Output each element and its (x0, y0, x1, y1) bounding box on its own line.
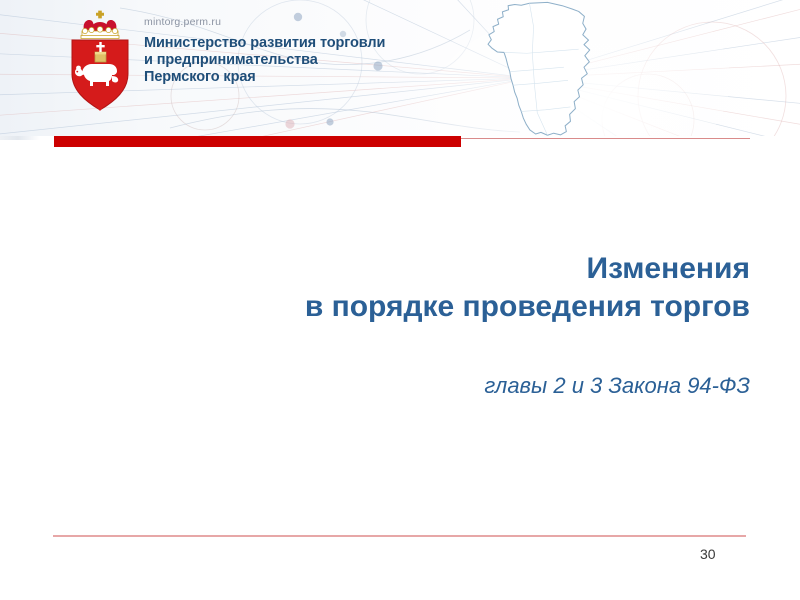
ministry-name: Министерство развития торговли и предпри… (144, 35, 404, 86)
presentation-slide: mintorg.perm.ru Министерство развития то… (0, 0, 800, 600)
ministry-brand-block: mintorg.perm.ru Министерство развития то… (144, 16, 404, 86)
slide-content: Изменения в порядке проведения торгов гл… (60, 250, 750, 400)
ministry-website-url: mintorg.perm.ru (144, 16, 404, 29)
header-thin-red-line (461, 138, 750, 139)
coat-of-arms-icon (62, 8, 138, 112)
slide-header: mintorg.perm.ru Министерство развития то… (0, 0, 800, 136)
page-title: Изменения в порядке проведения торгов (60, 250, 750, 326)
page-subtitle: главы 2 и 3 Закона 94-ФЗ (60, 326, 750, 400)
header-red-bar (54, 136, 461, 147)
page-number: 30 (700, 546, 740, 562)
footer-divider (53, 535, 746, 537)
